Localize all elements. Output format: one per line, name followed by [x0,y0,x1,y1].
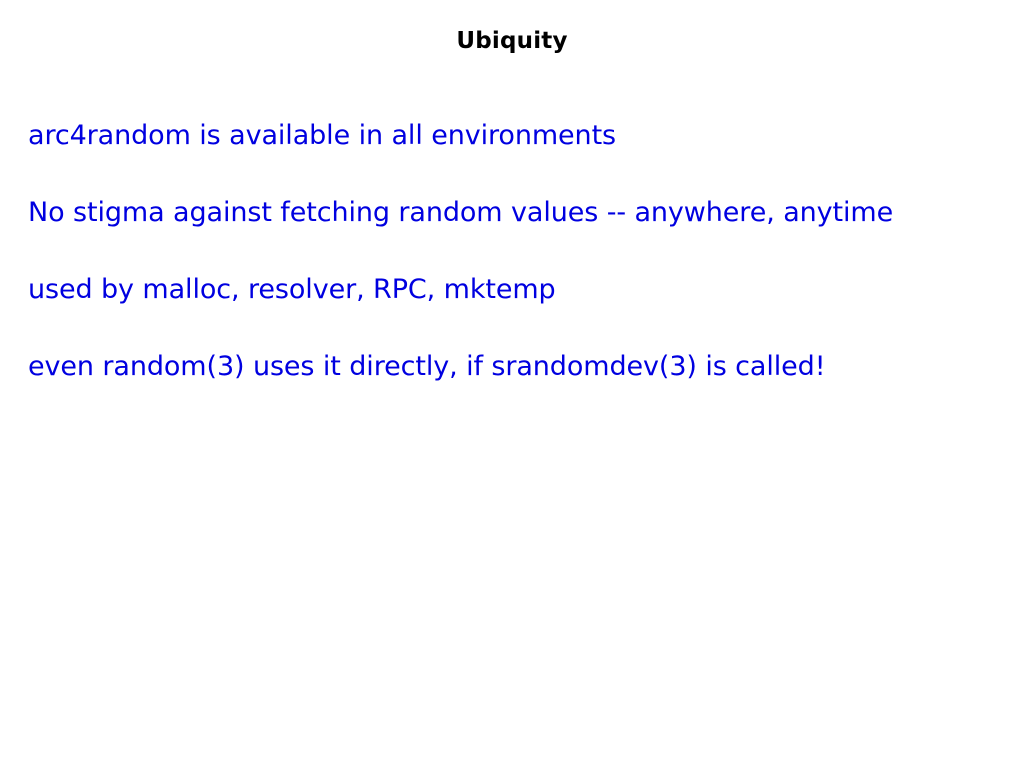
body-line-2: No stigma against fetching random values… [28,197,996,229]
body-line-4: even random(3) uses it directly, if sran… [28,351,996,383]
body-line-1: arc4random is available in all environme… [28,120,996,152]
body-line-3: used by malloc, resolver, RPC, mktemp [28,274,996,306]
slide-body: arc4random is available in all environme… [28,120,996,383]
presentation-slide: Ubiquity arc4random is available in all … [0,0,1024,768]
slide-title: Ubiquity [0,26,1024,56]
